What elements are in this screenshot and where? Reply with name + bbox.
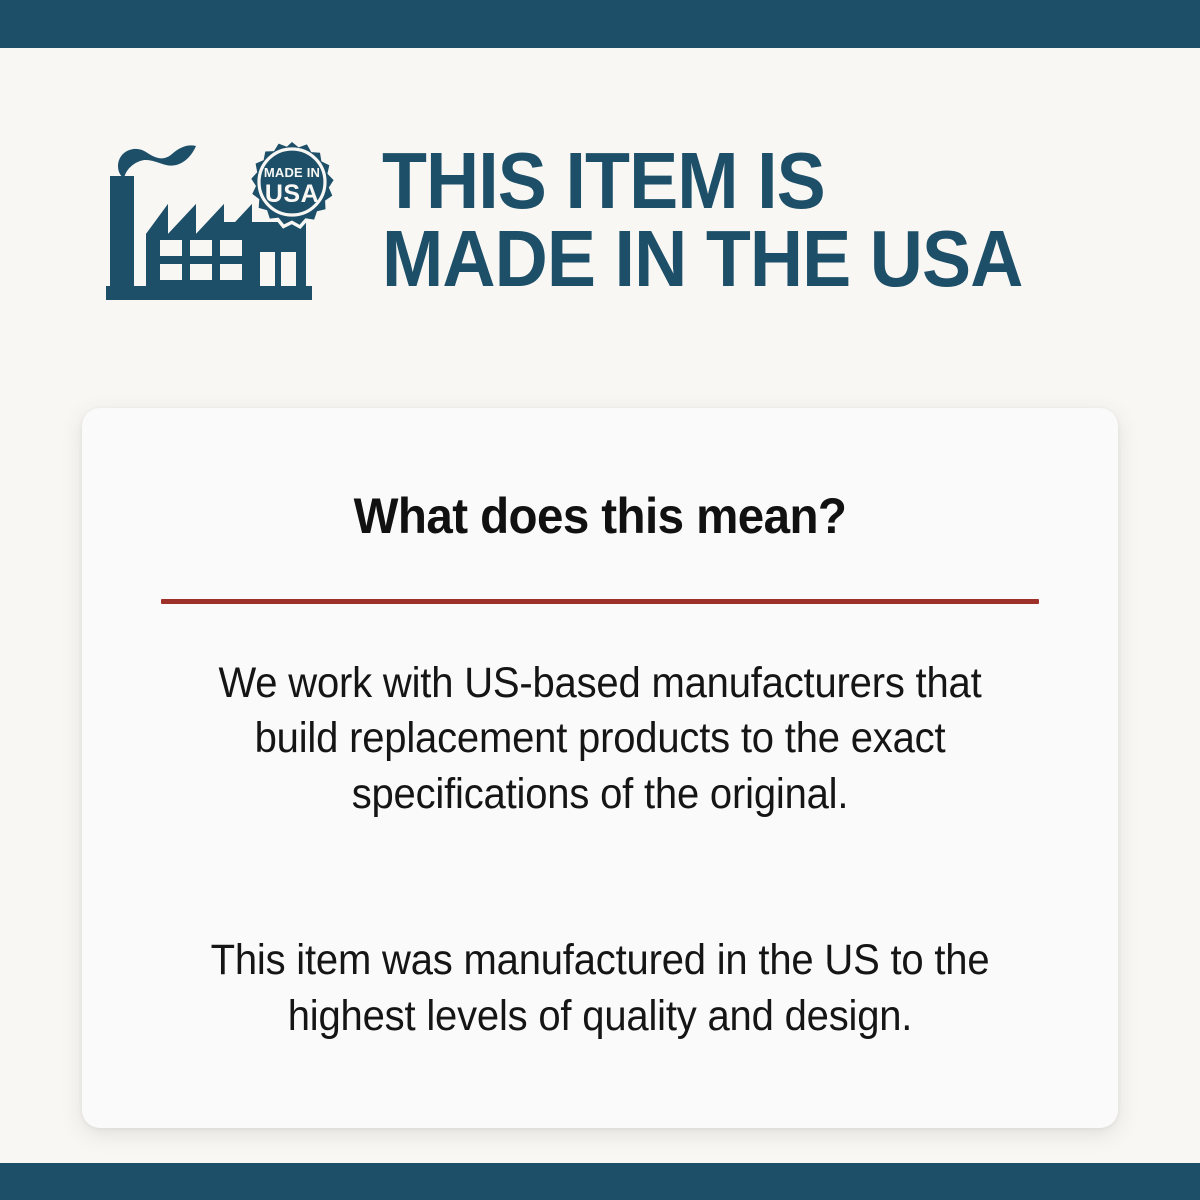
page-title: THIS ITEM IS MADE IN THE USA [382, 142, 1078, 297]
svg-text:USA: USA [265, 180, 319, 208]
header: MADE IN USA THIS ITEM IS MADE IN THE USA [0, 100, 1200, 340]
info-card: What does this mean? We work with US-bas… [82, 408, 1118, 1128]
card-body: We work with US-based manufacturers that… [160, 656, 1040, 1045]
title-line-1: THIS ITEM IS [382, 142, 1022, 220]
top-brand-bar [0, 0, 1200, 48]
made-in-usa-badge-icon: MADE IN USA [247, 135, 338, 229]
factory-icon: MADE IN USA [100, 130, 340, 310]
page-canvas: MADE IN USA THIS ITEM IS MADE IN THE USA… [0, 48, 1200, 1163]
title-line-2: MADE IN THE USA [382, 220, 1022, 298]
paragraph-two: This item was manufactured in the US to … [191, 933, 1009, 1045]
heading-divider [161, 599, 1039, 604]
card-heading: What does this mean? [165, 490, 1035, 543]
bottom-brand-bar [0, 1163, 1200, 1200]
svg-text:MADE IN: MADE IN [264, 165, 320, 180]
paragraph-one: We work with US-based manufacturers that… [191, 656, 1009, 824]
